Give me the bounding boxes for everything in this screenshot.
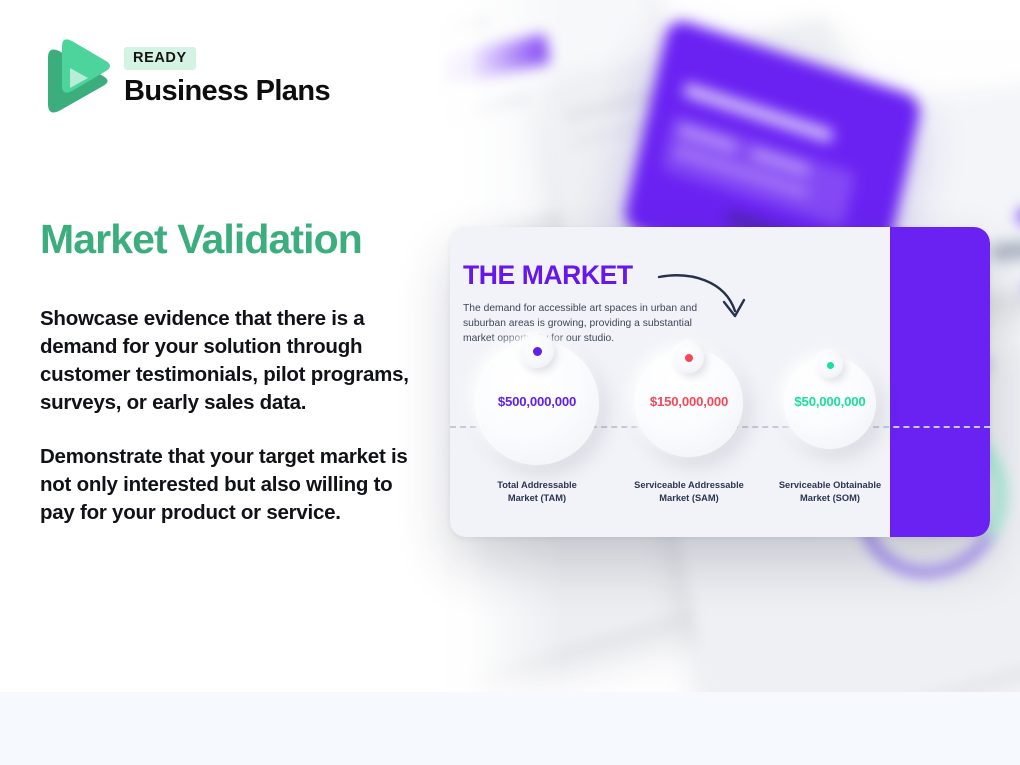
metric-tam: $500,000,000 Total Addressable Market (T… <box>463 341 611 465</box>
metric-som-amount: $50,000,000 <box>753 394 907 409</box>
metric-sam-label-line2: Market (SAM) <box>659 493 718 503</box>
brand-lockup: READY Business Plans <box>40 38 330 116</box>
metric-sam: $150,000,000 Serviceable Addressable Mar… <box>608 349 770 457</box>
metric-som: $50,000,000 Serviceable Obtainable Marke… <box>753 357 907 449</box>
metric-sam-label-line1: Serviceable Addressable <box>634 480 744 490</box>
page-title: Market Validation <box>40 216 362 263</box>
metric-sam-label: Serviceable Addressable Market (SAM) <box>608 479 770 506</box>
body-paragraph-2: Demonstrate that your target market is n… <box>40 443 418 527</box>
metric-som-label-line1: Serviceable Obtainable <box>779 480 881 490</box>
body-paragraph-1: Showcase evidence that there is a demand… <box>40 305 418 417</box>
bottom-band <box>0 692 1020 765</box>
red-dot-icon <box>685 354 693 362</box>
metric-tam-amount: $500,000,000 <box>463 394 611 409</box>
metric-tam-label-line1: Total Addressable <box>497 480 577 490</box>
metric-tam-label-line2: Market (TAM) <box>508 493 566 503</box>
body-copy: Showcase evidence that there is a demand… <box>40 305 418 527</box>
metric-som-label-line2: Market (SOM) <box>800 493 860 503</box>
market-slide-card: THE MARKET The demand for accessible art… <box>450 227 990 537</box>
brand-text: READY Business Plans <box>124 47 330 108</box>
metric-som-label: Serviceable Obtainable Market (SOM) <box>753 479 907 506</box>
purple-dot-icon <box>533 347 542 356</box>
green-dot-icon <box>827 362 834 369</box>
metric-tam-label: Total Addressable Market (TAM) <box>463 479 611 506</box>
ready-badge: READY <box>124 47 196 70</box>
brand-name: Business Plans <box>124 75 330 108</box>
double-play-triangle-icon <box>40 38 110 116</box>
slide-page: READY Business Plans Market Validation S… <box>0 0 1020 765</box>
metric-sam-amount: $150,000,000 <box>608 394 770 409</box>
market-bubbles: $500,000,000 Total Addressable Market (T… <box>450 227 990 537</box>
